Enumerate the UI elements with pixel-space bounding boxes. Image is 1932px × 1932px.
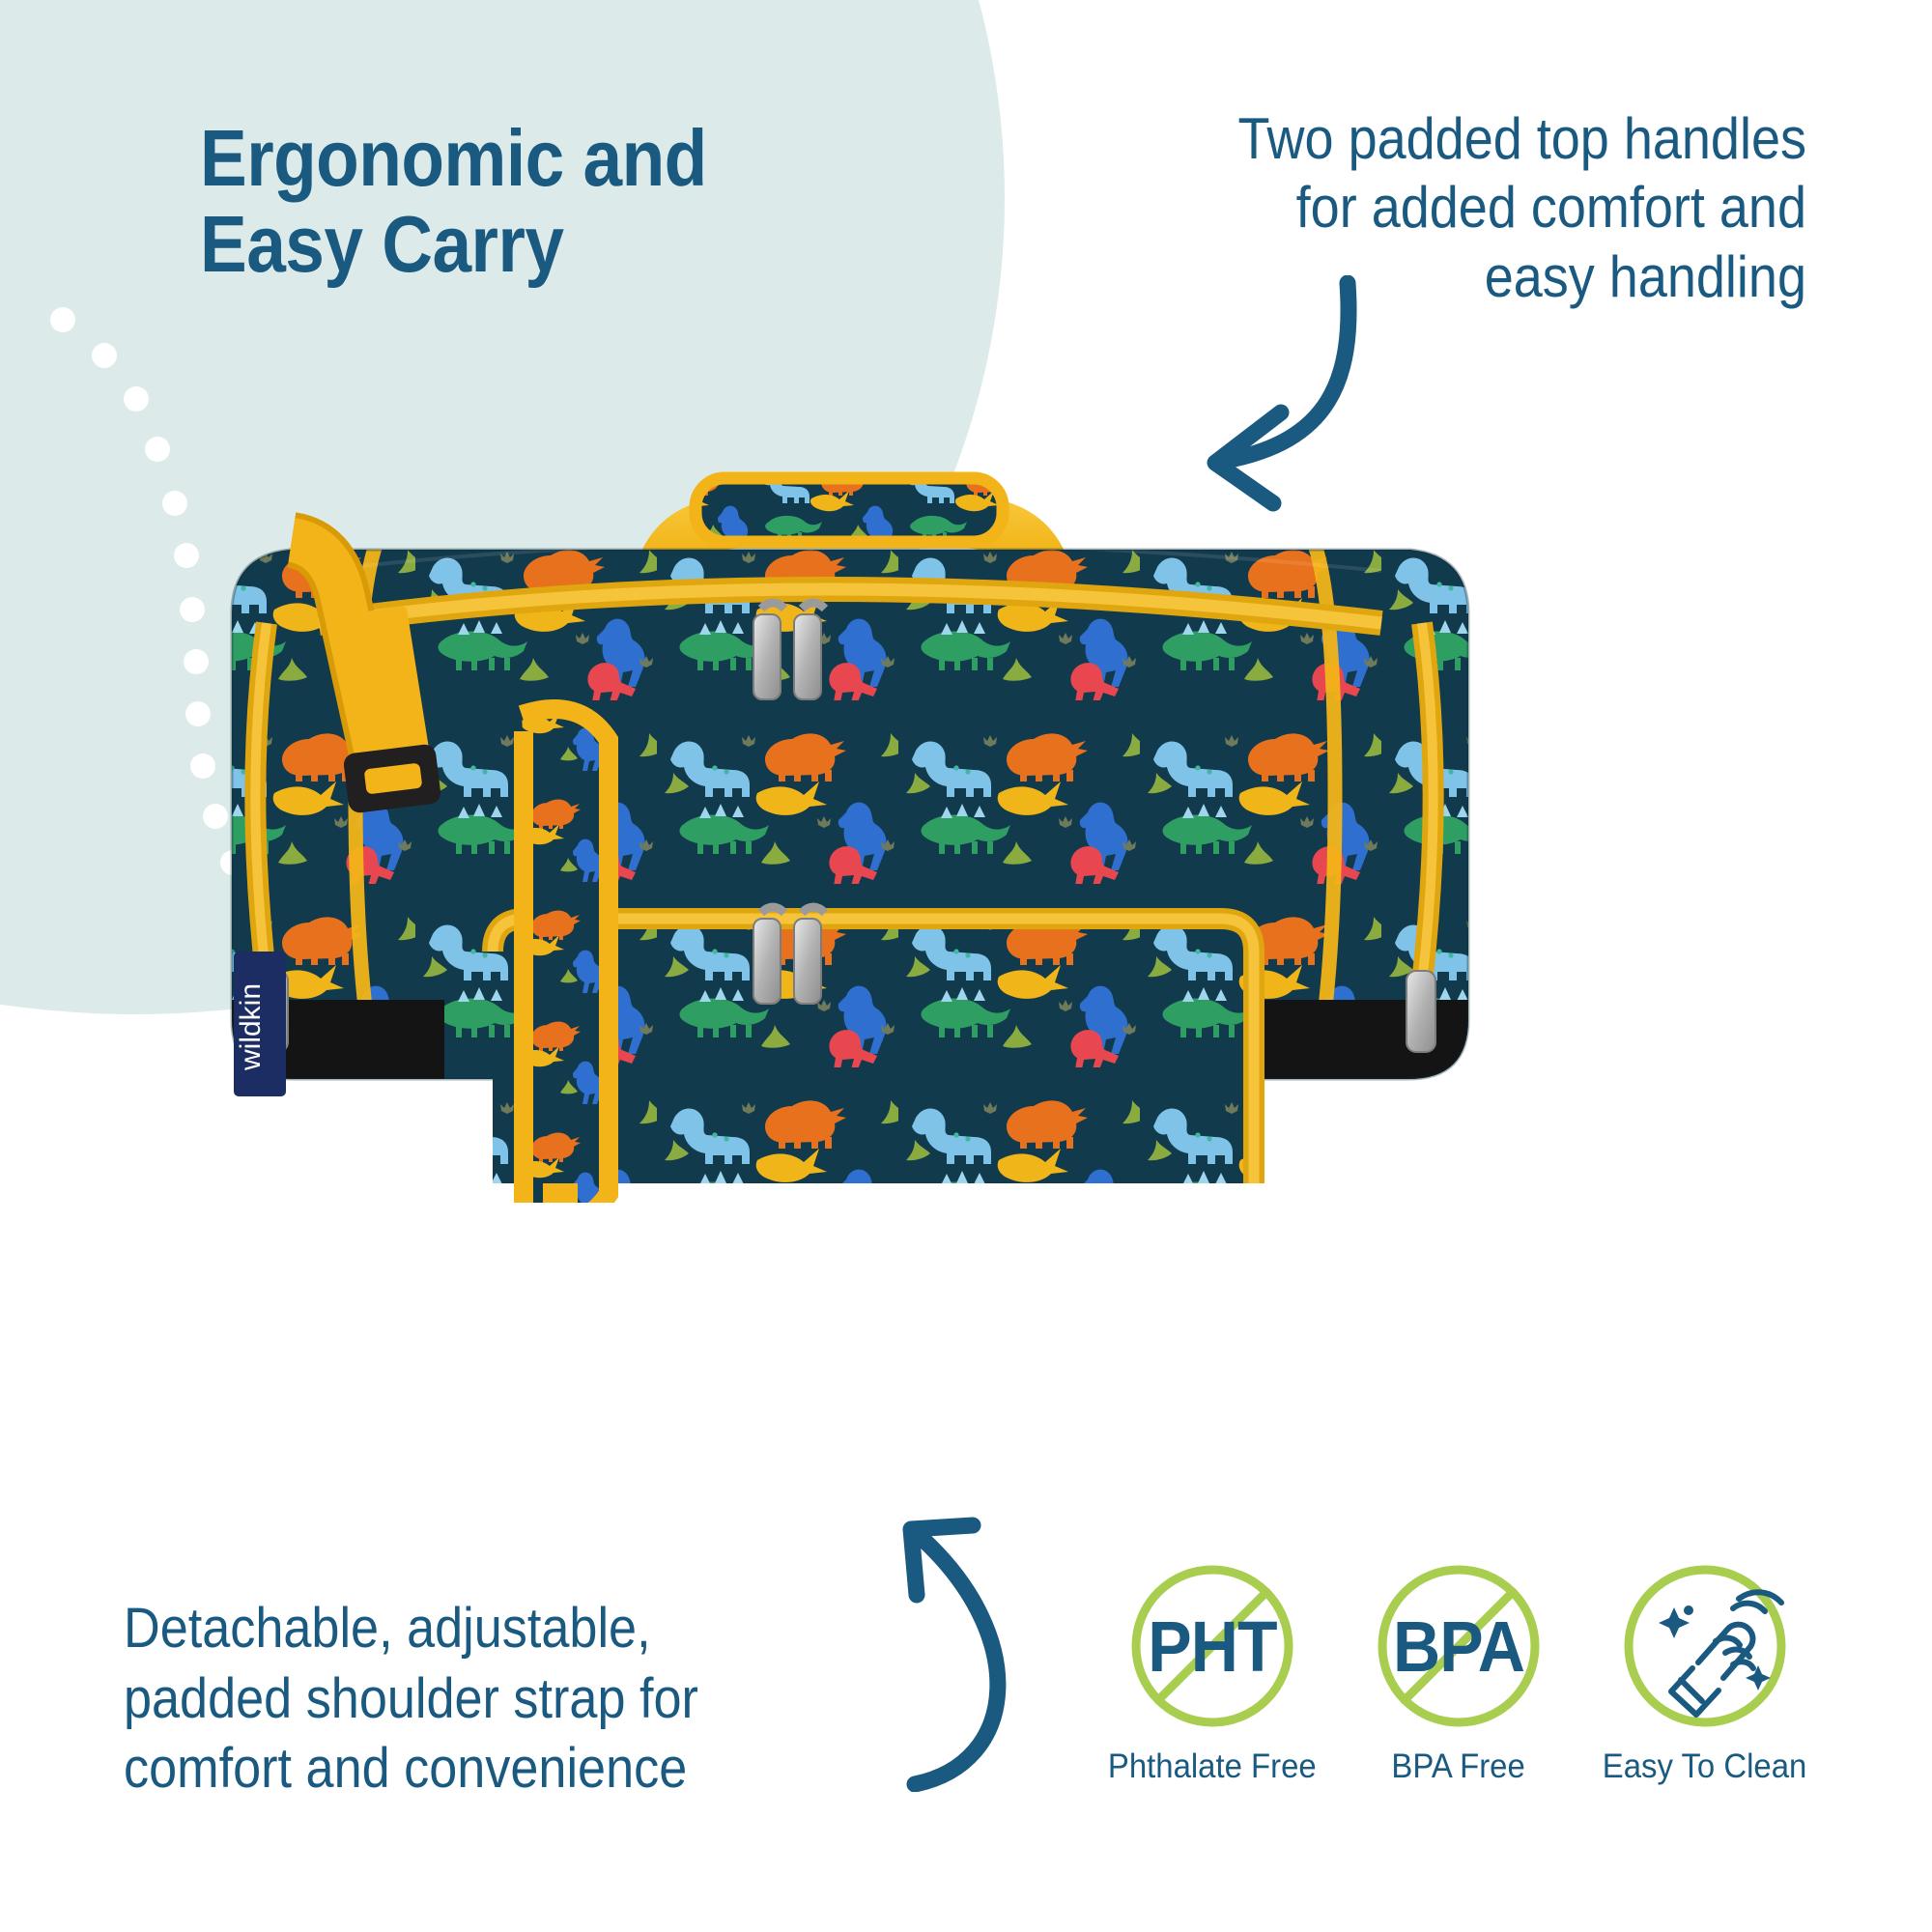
decorative-dot [124, 386, 149, 412]
brand-label-text: wildkin [235, 983, 267, 1071]
badge-phthalate-free: PHTPhthalate Free [1111, 1560, 1314, 1786]
callout-bottom-line-3: comfort and convenience [124, 1734, 845, 1804]
wiping-hand-icon [1619, 1560, 1791, 1732]
decorative-dot [92, 343, 117, 368]
page-title: Ergonomic and Easy Carry [200, 116, 795, 288]
no-bpa-icon: BPA [1373, 1560, 1545, 1732]
no-phthalate-icon: PHT [1126, 1560, 1298, 1732]
brand-label: wildkin [234, 952, 286, 1096]
headline-line-2: Easy Carry [200, 202, 795, 288]
badge-easy-to-clean: Easy To Clean [1604, 1560, 1806, 1786]
callout-shoulder-strap: Detachable, adjustable, padded shoulder … [124, 1594, 845, 1804]
badge-caption: Phthalate Free [1108, 1747, 1317, 1786]
headline-line-1: Ergonomic and [200, 116, 795, 202]
callout-top-line-1: Two padded top handles [1146, 104, 1806, 173]
handle-padded-grip [696, 478, 1003, 542]
callout-bottom-line-2: padded shoulder strap for [124, 1664, 845, 1735]
zipper-pull-right [1406, 971, 1435, 1052]
infographic-canvas: Ergonomic and Easy Carry Two padded top … [0, 0, 1932, 1932]
badge-letters: BPA [1379, 1560, 1538, 1732]
certification-badges: PHTPhthalate FreeBPABPA FreeEasy To Clea… [1111, 1560, 1806, 1850]
badge-bpa-free: BPABPA Free [1357, 1560, 1560, 1786]
duffel-bag-image: wildkin [174, 333, 1526, 1203]
badge-letters: PHT [1133, 1560, 1292, 1732]
decorative-dot [50, 307, 75, 332]
decorative-dot [145, 437, 170, 462]
badge-caption: BPA Free [1392, 1747, 1525, 1786]
badge-caption: Easy To Clean [1603, 1747, 1807, 1786]
callout-bottom-line-1: Detachable, adjustable, [124, 1594, 845, 1664]
padded-shoulder-pad [522, 709, 609, 1203]
callout-top-line-2: for added comfort and [1146, 173, 1806, 241]
